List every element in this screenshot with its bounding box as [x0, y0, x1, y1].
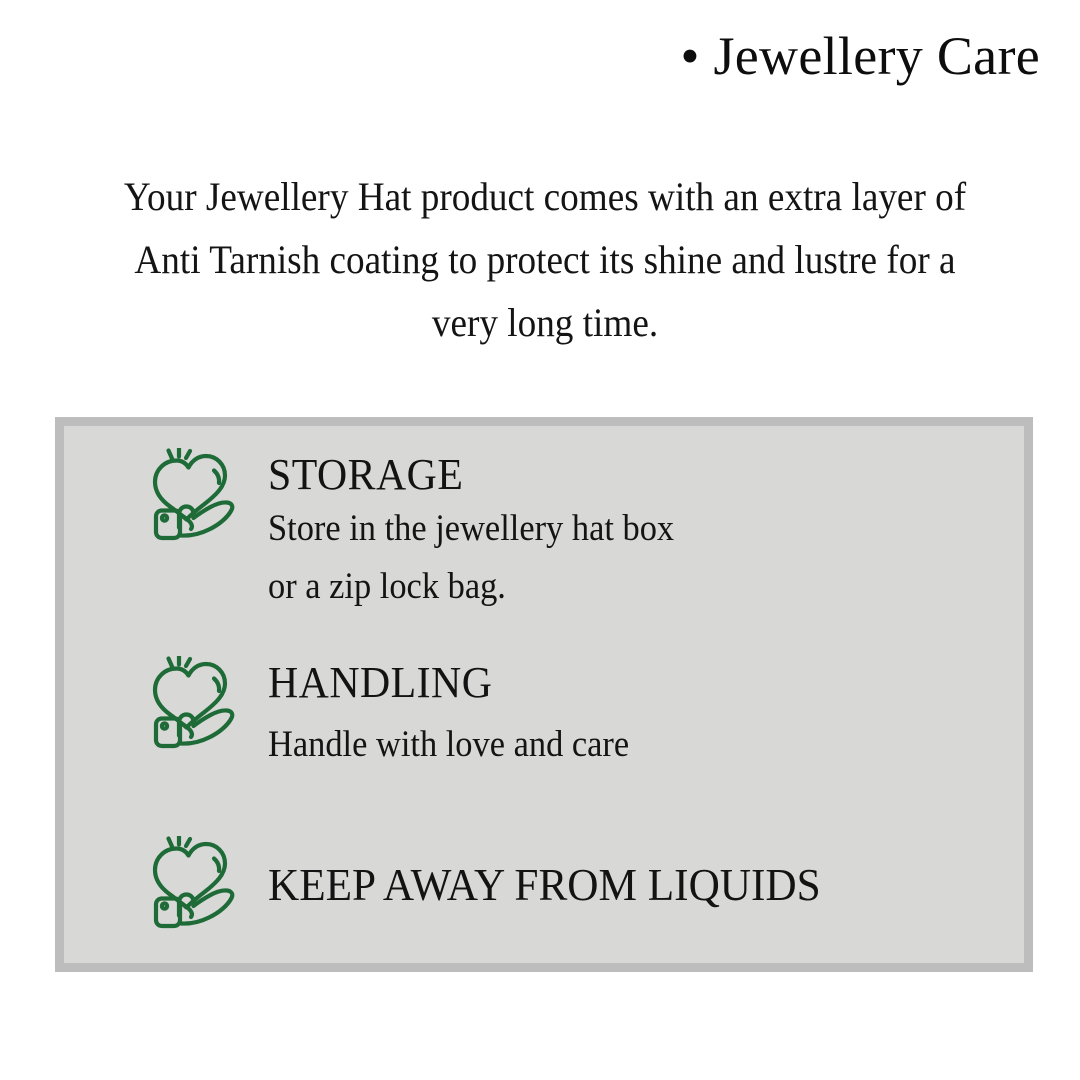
- care-panel: STORAGE Store in the jewellery hat box o…: [55, 417, 1033, 972]
- care-item-line: Store in the jewellery hat box: [268, 500, 674, 558]
- hand-holding-heart-icon: [146, 836, 246, 936]
- care-item-heading: HANDLING: [268, 658, 637, 708]
- care-item-handling: HANDLING Handle with love and care: [146, 656, 656, 776]
- hand-holding-heart-icon: [146, 448, 246, 548]
- intro-paragraph: Your Jewellery Hat product comes with an…: [122, 165, 968, 354]
- care-item-text: KEEP AWAY FROM LIQUIDS: [268, 836, 856, 910]
- care-panel-inner: STORAGE Store in the jewellery hat box o…: [64, 426, 1024, 963]
- jewellery-care-page: • Jewellery Care Your Jewellery Hat prod…: [0, 0, 1080, 1080]
- page-title-row: • Jewellery Care: [0, 28, 1040, 85]
- care-item-text: STORAGE Store in the jewellery hat box o…: [268, 448, 705, 616]
- care-item-text: HANDLING Handle with love and care: [268, 656, 656, 776]
- care-item-liquids: KEEP AWAY FROM LIQUIDS: [146, 836, 856, 936]
- page-title: • Jewellery Care: [680, 28, 1040, 85]
- care-item-line: or a zip lock bag.: [268, 558, 674, 616]
- care-item-heading: KEEP AWAY FROM LIQUIDS: [268, 838, 821, 910]
- care-item-line: Handle with love and care: [268, 714, 629, 776]
- care-item-heading: STORAGE: [268, 450, 683, 500]
- care-item-storage: STORAGE Store in the jewellery hat box o…: [146, 448, 705, 616]
- hand-holding-heart-icon: [146, 656, 246, 756]
